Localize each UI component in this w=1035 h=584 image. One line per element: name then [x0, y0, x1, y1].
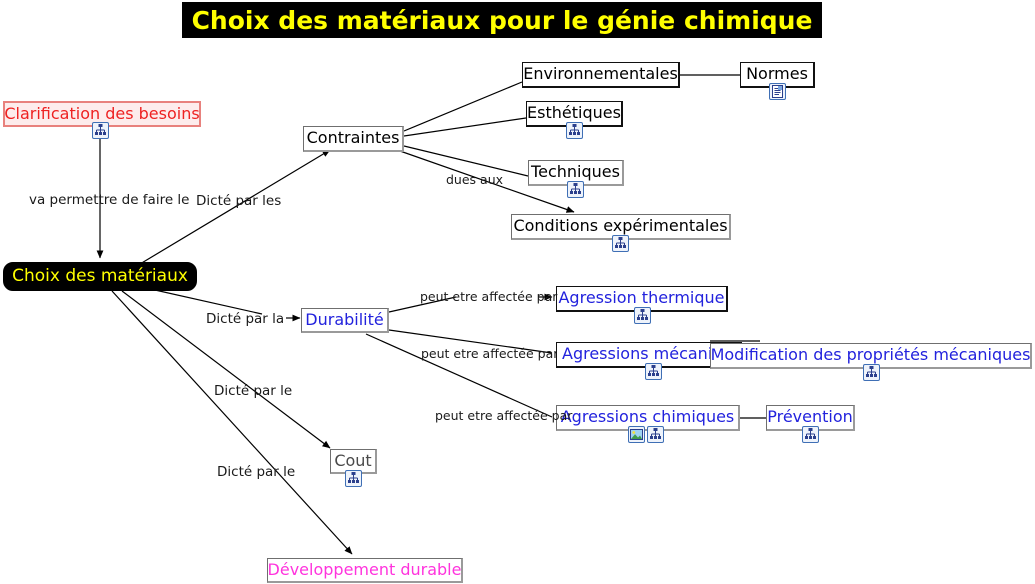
picture-icon[interactable] [628, 426, 645, 443]
link-label-peut-etre-affectee-mecaniques[interactable]: peut etre affectée par [421, 348, 558, 361]
concept-map-icon[interactable] [863, 364, 880, 381]
node-label: Normes [746, 66, 808, 82]
node-label: Environnementales [523, 66, 678, 82]
node-label: Contraintes [307, 130, 400, 146]
icon-tray-agressions-mecaniques[interactable] [645, 363, 662, 380]
icon-tray-modification[interactable] [863, 364, 880, 381]
node-label: Modification des propriétés mécaniques [711, 347, 1031, 363]
node-label: Clarification des besoins [4, 106, 199, 122]
icon-tray-conditions[interactable] [612, 235, 629, 252]
link-label-dicte-par-le-cout[interactable]: Dicté par le [214, 385, 292, 399]
node-label: Esthétiques [527, 105, 621, 121]
link-label-va-permettre[interactable]: va permettre de faire le [29, 194, 189, 208]
node-label: Techniques [531, 164, 620, 180]
concept-map-icon[interactable] [634, 307, 651, 324]
node-durabilite[interactable]: Durabilité [301, 308, 389, 333]
icon-tray-techniques[interactable] [567, 181, 584, 198]
icon-tray-prevention[interactable] [802, 426, 819, 443]
link-label-dicte-par-le-developpement[interactable]: Dicté par le [217, 466, 295, 480]
concept-map-icon[interactable] [345, 470, 362, 487]
node-label: Choix des matériaux [12, 268, 188, 285]
concept-map-canvas: Choix des matériaux pour le génie chimiq… [0, 0, 1035, 584]
icon-tray-cout[interactable] [345, 470, 362, 487]
icon-tray-clarification[interactable] [92, 122, 109, 139]
icon-tray-agression-thermique[interactable] [634, 307, 651, 324]
concept-map-icon[interactable] [802, 426, 819, 443]
page-title: Choix des matériaux pour le génie chimiq… [182, 2, 822, 38]
concept-map-icon[interactable] [647, 426, 664, 443]
icon-tray-esthetiques[interactable] [566, 122, 583, 139]
node-environnementales[interactable]: Environnementales [522, 62, 680, 88]
concept-map-icon[interactable] [612, 235, 629, 252]
node-label: Prévention [767, 409, 853, 425]
concept-map-icon[interactable] [567, 181, 584, 198]
link-label-dicte-par-les[interactable]: Dicté par les [196, 195, 281, 209]
node-label: Cout [334, 453, 371, 469]
document-icon[interactable] [769, 83, 786, 100]
page-title-text: Choix des matériaux pour le génie chimiq… [192, 6, 813, 35]
concept-map-icon[interactable] [92, 122, 109, 139]
link-label-peut-etre-affectee-thermique[interactable]: peut etre affectée par [420, 291, 557, 304]
icon-tray-normes[interactable] [769, 83, 786, 100]
node-choix-des-materiaux[interactable]: Choix des matériaux [3, 262, 197, 291]
concept-map-icon[interactable] [645, 363, 662, 380]
node-label: Agressions chimiques [561, 409, 735, 425]
icon-tray-agressions-chimiques[interactable] [628, 426, 664, 443]
link-label-dues-aux[interactable]: dues aux [446, 174, 503, 187]
node-label: Développement durable [268, 562, 462, 578]
link-label-peut-etre-affectee-chimiques[interactable]: peut etre affectée par [435, 410, 572, 423]
node-contraintes[interactable]: Contraintes [303, 126, 404, 152]
link-label-dicte-par-la[interactable]: Dicté par la [206, 313, 284, 327]
concept-map-icon[interactable] [566, 122, 583, 139]
node-label: Durabilité [305, 312, 383, 328]
node-developpement-durable[interactable]: Développement durable [267, 558, 463, 583]
node-label: Agression thermique [558, 290, 724, 306]
node-label: Conditions expérimentales [513, 218, 727, 234]
